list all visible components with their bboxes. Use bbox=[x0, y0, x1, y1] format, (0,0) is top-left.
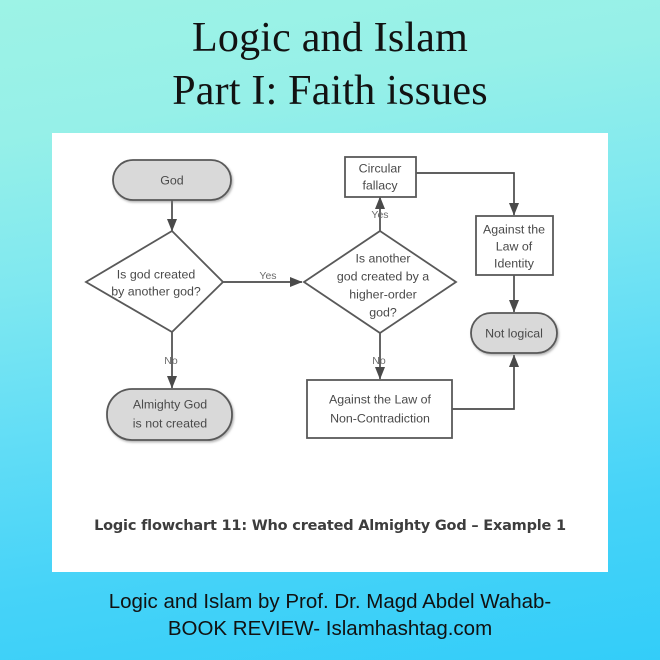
footer-credit: Logic and Islam by Prof. Dr. Magd Abdel … bbox=[0, 588, 660, 642]
q2-line-1: Is another bbox=[355, 251, 410, 265]
edge-label-q2-no: No bbox=[372, 355, 386, 367]
title-line-2: Part I: Faith issues bbox=[0, 65, 660, 118]
node-circular-fallacy[interactable]: Circular fallacy bbox=[345, 157, 416, 197]
node-almighty-god-not-created[interactable]: Almighty God is not created bbox=[107, 389, 232, 440]
edge-label-q1-no: No bbox=[164, 355, 178, 367]
edge-circular-to-identity bbox=[416, 173, 514, 215]
flowchart-diagram: God Is god created by another god? Is an… bbox=[52, 133, 608, 518]
q2-line-3: higher-order bbox=[349, 287, 417, 301]
almighty-line-1: Almighty God bbox=[133, 397, 207, 411]
node-against-law-of-non-contradiction[interactable]: Against the Law of Non-Contradiction bbox=[307, 380, 452, 438]
flowchart-card: God Is god created by another god? Is an… bbox=[52, 133, 608, 572]
footer-line-1: Logic and Islam by Prof. Dr. Magd Abdel … bbox=[0, 588, 660, 615]
footer-line-2: BOOK REVIEW- Islamhashtag.com bbox=[0, 615, 660, 642]
q1-line-2: by another god? bbox=[111, 284, 201, 298]
flowchart-caption: Logic flowchart 11: Who created Almighty… bbox=[52, 518, 608, 534]
identity-line-1: Against the bbox=[483, 222, 545, 236]
identity-line-3: Identity bbox=[494, 256, 535, 270]
title-line-1: Logic and Islam bbox=[0, 12, 660, 65]
node-against-law-of-identity[interactable]: Against the Law of Identity bbox=[476, 216, 553, 275]
node-question-higher-order-god[interactable]: Is another god created by a higher-order… bbox=[304, 231, 456, 333]
q1-line-1: Is god created bbox=[117, 267, 196, 281]
edge-label-q2-yes: Yes bbox=[371, 209, 388, 221]
identity-line-2: Law of bbox=[496, 239, 533, 253]
noncontra-line-2: Non-Contradiction bbox=[330, 411, 430, 425]
node-god-label: God bbox=[160, 173, 184, 187]
edge-label-q1-yes: Yes bbox=[259, 270, 276, 282]
q2-line-4: god? bbox=[369, 305, 397, 319]
almighty-line-2: is not created bbox=[133, 416, 207, 430]
not-logical-label: Not logical bbox=[485, 326, 543, 340]
node-not-logical[interactable]: Not logical bbox=[471, 313, 557, 353]
circular-line-2: fallacy bbox=[362, 178, 398, 192]
noncontra-line-1: Against the Law of bbox=[329, 392, 432, 406]
q2-line-2: god created by a bbox=[337, 269, 429, 283]
node-god[interactable]: God bbox=[113, 160, 231, 200]
node-question-is-god-created[interactable]: Is god created by another god? bbox=[86, 231, 223, 332]
page-title: Logic and Islam Part I: Faith issues bbox=[0, 12, 660, 118]
edge-noncontra-to-notlogical bbox=[452, 355, 514, 409]
circular-line-1: Circular bbox=[359, 161, 402, 175]
